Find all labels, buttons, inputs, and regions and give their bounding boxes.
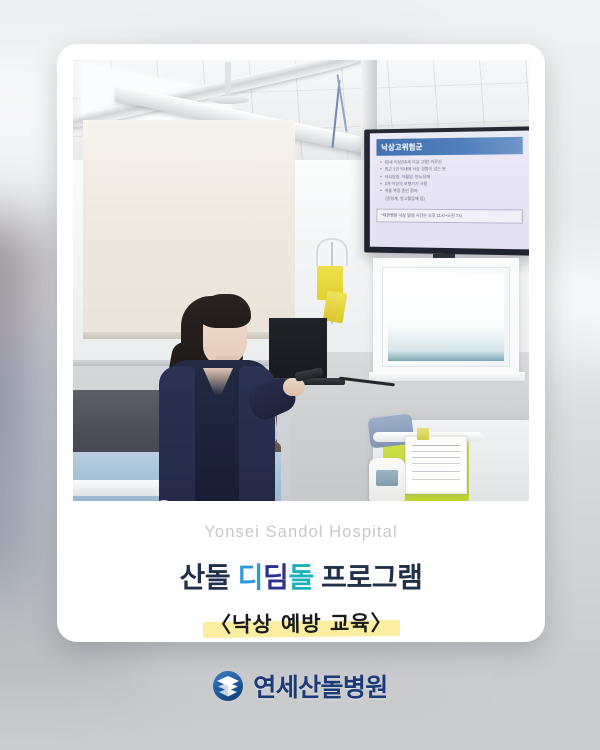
subtitle-text: 〈낙상 예방 교육〉 bbox=[210, 611, 393, 637]
page-subtitle: 〈낙상 예방 교육〉 bbox=[203, 607, 400, 639]
poster-canvas: 낙상고위험군 • 65세 이상(65세 이상 고령) 어르신 • 최근 1년 이… bbox=[0, 0, 600, 750]
caption-block: Yonsei Sandol Hospital 산돌 디딤돌 프로그램 〈낙상 예… bbox=[73, 501, 529, 638]
hero-photo: 낙상고위험군 • 65세 이상(65세 이상 고령) 어르신 • 최근 1년 이… bbox=[73, 60, 529, 501]
photo-overlay bbox=[73, 60, 529, 501]
title-part-3: 딤 bbox=[263, 562, 288, 593]
yonsei-sandol-logo-icon bbox=[212, 670, 244, 702]
brand-lockup: 연세산돌병원 bbox=[0, 668, 600, 704]
title-part-2: 디 bbox=[238, 562, 263, 593]
title-part-5: 프로그램 bbox=[314, 562, 423, 593]
subtitle-row: 〈낙상 예방 교육〉 bbox=[73, 608, 529, 638]
title-part-1: 산돌 bbox=[179, 562, 237, 593]
page-title: 산돌 디딤돌 프로그램 bbox=[73, 556, 529, 596]
title-part-4: 돌 bbox=[288, 562, 313, 593]
brand-name: 연세산돌병원 bbox=[253, 668, 387, 704]
eyebrow-text: Yonsei Sandol Hospital bbox=[73, 523, 529, 542]
poster-card: 낙상고위험군 • 65세 이상(65세 이상 고령) 어르신 • 최근 1년 이… bbox=[57, 44, 545, 642]
